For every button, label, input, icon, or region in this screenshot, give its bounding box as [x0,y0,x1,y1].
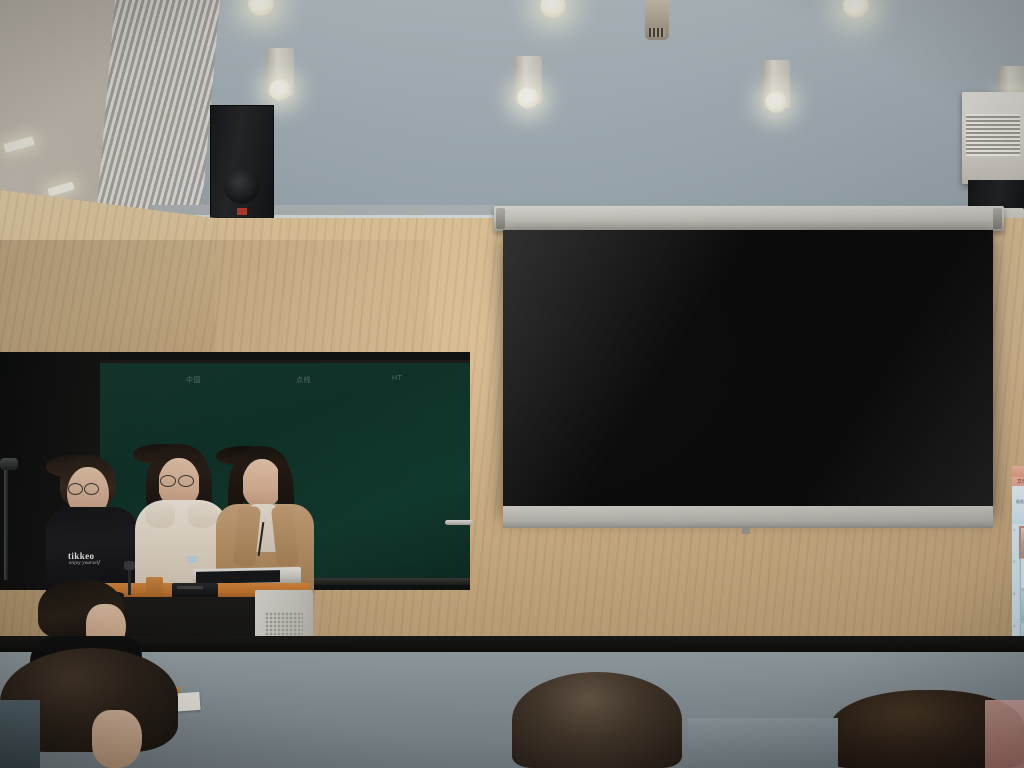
smoke-detector-icon [645,0,669,40]
presenter-left: tikkeo enjoy yourself [46,455,138,595]
podium-cup-holder [146,577,163,594]
seat-left [0,700,40,768]
glasses-icon [160,475,176,487]
projection-screen-bottom-bar [503,506,993,528]
ceiling-air-vent [95,0,220,230]
audience-member-3 [512,672,682,768]
hoodie-tagline-text: enjoy yourself [69,561,100,566]
hoodie-brand-text: tikkeo [68,551,94,561]
thumbnail-number: 1 [1013,527,1015,532]
ceiling-downlight [266,48,294,96]
glasses-icon [68,483,83,495]
slide-thumbnail-2[interactable] [1020,558,1024,589]
microphone-stand [4,468,8,580]
air-conditioner-unit [962,92,1024,184]
screen-weight-tab [742,528,750,534]
ribbon-group-label: 剪贴板 [1014,517,1024,523]
pointer-rod [445,520,473,525]
chalk-mark: 中国 [186,375,201,385]
microphone-icon [0,458,18,470]
ribbon-tab-strip: 文件 开始 插入 设计 切换 动画 幻灯片放映 审阅 视图 百度网盘 告诉我您想… [1012,477,1024,486]
podium-microphone-icon [124,561,135,570]
slide-thumbnail-3[interactable] [1020,590,1024,621]
seat-right [688,718,838,768]
wall-speaker-left [210,105,274,222]
ceiling-downlight [762,60,790,108]
glasses-icon [178,475,194,487]
chalk-mark: 点线 [296,375,311,385]
slide-thumbnail-1[interactable] [1019,526,1024,559]
glasses-icon [84,483,99,495]
tab-file[interactable]: 文件 [1017,478,1024,485]
ribbon: 粘贴 剪切 复制 格式刷 剪贴板 新建幻灯片 版式 重置 节 幻灯片 [1012,486,1024,525]
ribbon-group-clipboard: 粘贴 剪切 复制 格式刷 剪贴板 [1014,487,1024,523]
projection-screen-case [494,206,1004,231]
thumbnail-number: 4 [1013,623,1015,628]
classroom-photo: 中国 点线 HT Echo回声——美丽中国点线面的呈现者 (只读) - Powe… [0,0,1024,768]
thumbnail-number: 3 [1013,591,1015,596]
audience-member-5 [985,700,1024,768]
name-badge [187,556,197,563]
projection-screen: Echo回声——美丽中国点线面的呈现者 (只读) - PowerPoint — … [503,230,993,512]
console-display [196,570,280,584]
chalk-mark: HT [392,375,402,382]
ceiling-downlight [514,56,542,104]
window-titlebar [1012,466,1024,477]
paste-button[interactable]: 粘贴 [1016,499,1024,505]
thumbnail-number: 2 [1013,559,1015,564]
